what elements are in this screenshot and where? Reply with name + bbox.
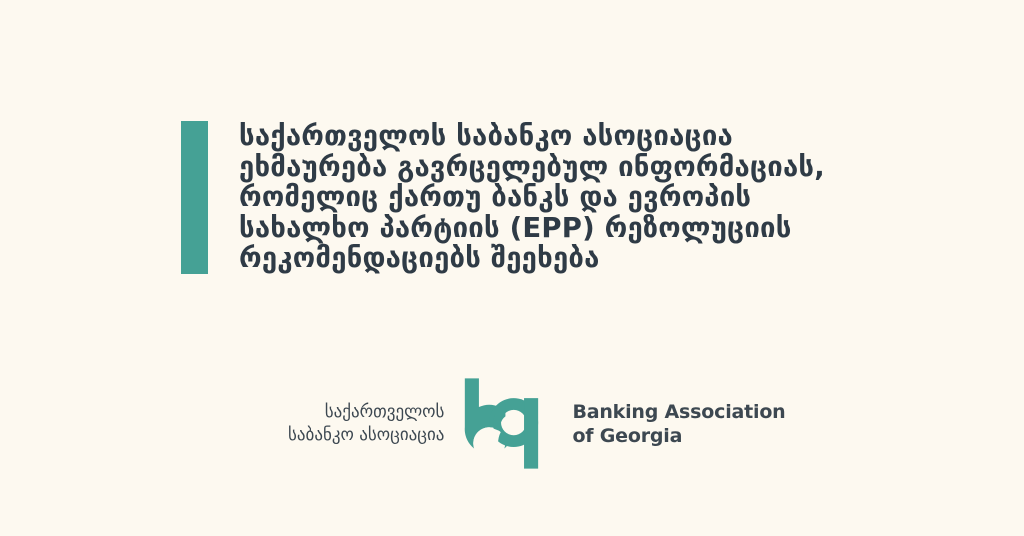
logo-english-name: Banking Association of Georgia — [556, 400, 785, 448]
headline-block: საქართველოს საბანკო ასოციაცია ეხმაურება … — [181, 121, 825, 274]
accent-bar — [181, 121, 208, 274]
logo-lockup: საქართველოს საბანკო ასოციაცია Banking As… — [288, 376, 786, 471]
announcement-card: საქართველოს საბანკო ასოციაცია ეხმაურება … — [0, 0, 1024, 536]
logo-georgian-name: საქართველოს საბანკო ასოციაცია — [288, 401, 462, 447]
ba-monogram-icon — [462, 376, 556, 471]
page-title: საქართველოს საბანკო ასოციაცია ეხმაურება … — [208, 121, 825, 274]
